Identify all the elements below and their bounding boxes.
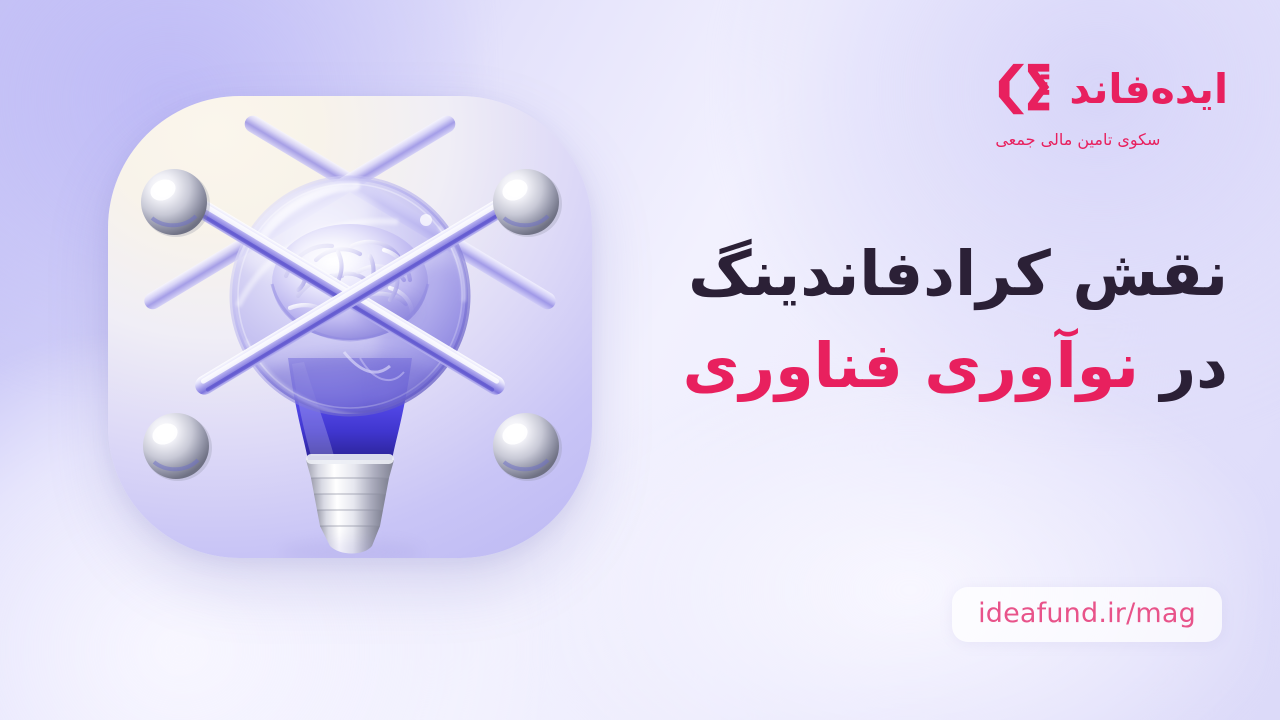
- headline-block: نقش کرادفاندینگ در نوآوری فناوری: [608, 236, 1228, 403]
- bulb-screw-base: [306, 454, 394, 554]
- brand-name: ایده‌فاند: [1069, 69, 1228, 110]
- sphere-node-top-right: [493, 169, 562, 237]
- headline-line-2-accent: نوآوری فناوری: [683, 329, 1139, 402]
- sphere-node-top-left: [141, 169, 210, 237]
- illustration-artwork: [108, 96, 592, 558]
- ideafund-hexagon-sigma-logo-icon: [995, 58, 1057, 120]
- brand-lockup: ایده‌فاند سکوی تامین مالی جمعی: [995, 58, 1228, 149]
- background-glow-center: [560, 380, 1260, 720]
- url-badge[interactable]: ideafund.ir/mag: [952, 587, 1222, 642]
- brand-row: ایده‌فاند: [995, 58, 1228, 120]
- headline-line-2-prefix: در: [1139, 329, 1228, 402]
- illustration-card: [108, 96, 592, 558]
- sphere-node-bottom-right: [493, 413, 562, 481]
- headline-line-1: نقش کرادفاندینگ: [608, 236, 1228, 312]
- sphere-node-bottom-left: [143, 413, 212, 481]
- headline-line-2: در نوآوری فناوری: [608, 328, 1228, 404]
- brand-tagline: سکوی تامین مالی جمعی: [995, 130, 1160, 149]
- poster-canvas: ایده‌فاند سکوی تامین مالی جمعی نقش کرادف…: [0, 0, 1280, 720]
- lightbulb-brain-atom-icon: [108, 96, 592, 558]
